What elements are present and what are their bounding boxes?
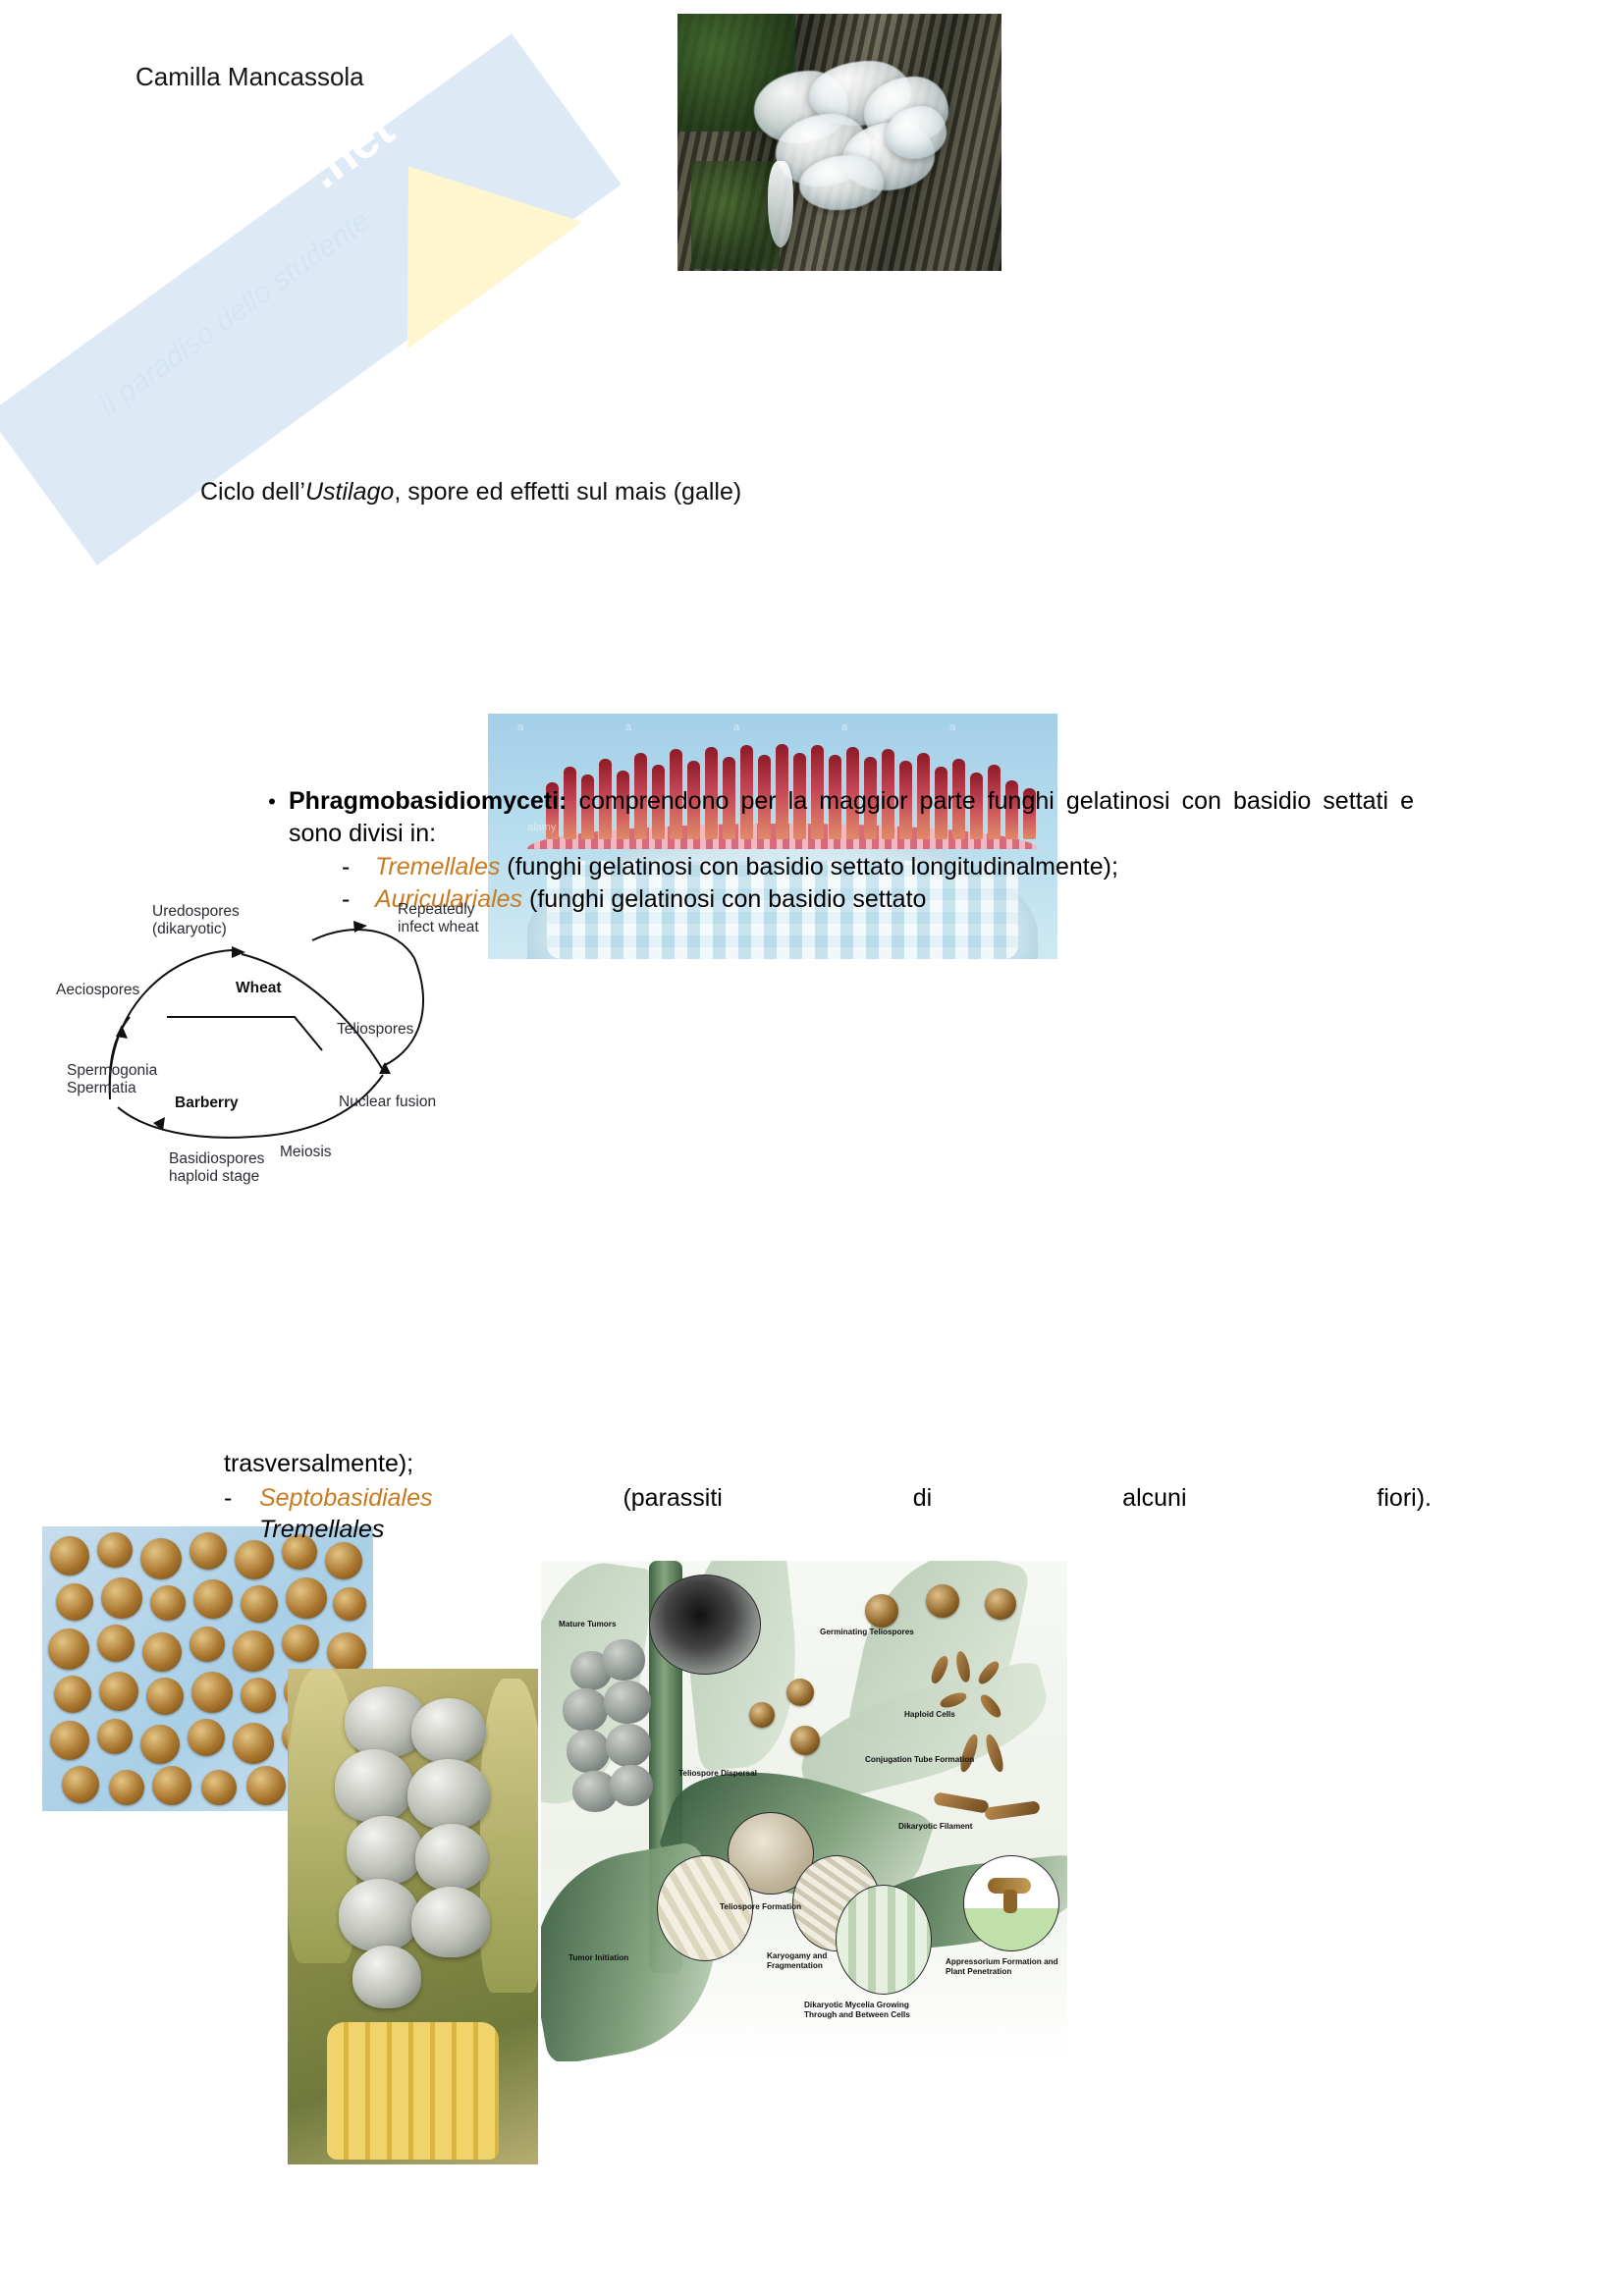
illustration-ustilago-life-cycle: Mature Tumors Teliospore Dispersal Germi… xyxy=(541,1561,1067,2061)
rust-label-barberry: Barberry xyxy=(175,1095,239,1112)
photo-corn-smut-galls xyxy=(288,1669,538,2164)
mature-tumor-lobe xyxy=(563,1688,608,1732)
mature-tumor-lobe xyxy=(606,1724,651,1767)
alamy-tile-a: a xyxy=(517,721,523,733)
caption-prefix: Ciclo dell’ xyxy=(200,478,305,506)
sub-text-tremellales: (funghi gelatinosi con basidio settato l… xyxy=(500,853,1118,881)
document-page: SKUOLA .net il paradiso dello studente C… xyxy=(0,0,1623,2296)
rust-label-basidiospores: Basidiospores haploid stage xyxy=(169,1150,264,1187)
caption-italic-term: Ustilago xyxy=(305,478,394,506)
label-teliospore-dispersal: Teliospore Dispersal xyxy=(678,1769,757,1779)
mature-tumor-lobe xyxy=(604,1681,651,1724)
label-haploid-cells: Haploid Cells xyxy=(904,1710,955,1720)
figure-caption-ustilago: Ciclo dell’Ustilago, spore ed effetti su… xyxy=(200,478,741,507)
rust-label-uredospores: Uredospores (dikaryotic) xyxy=(152,903,240,939)
alamy-tile-a: a xyxy=(733,721,739,733)
smut-gall xyxy=(335,1749,413,1822)
appressorium-circle xyxy=(963,1855,1059,1951)
smut-gall xyxy=(415,1824,488,1891)
germinating-teliospore xyxy=(865,1594,898,1628)
tumor-closeup-circle xyxy=(649,1575,761,1675)
corn-kernels xyxy=(327,2022,499,2160)
word-parassiti: (parassiti xyxy=(622,1482,722,1515)
mature-tumor-lobe xyxy=(567,1730,610,1773)
watermark-tld: .net xyxy=(297,99,405,200)
rust-label-repeatedly-infect: Repeatedly infect wheat xyxy=(398,901,479,937)
alamy-tile-a: a xyxy=(625,721,631,733)
mature-tumor-lobe xyxy=(610,1765,653,1806)
word-alcuni: alcuni xyxy=(1122,1482,1186,1515)
rust-label-meiosis: Meiosis xyxy=(280,1144,332,1161)
watermark-triangle xyxy=(321,103,582,349)
watermark-tagline: il paradiso dello studente xyxy=(93,204,376,423)
rust-life-cycle-diagram: Uredospores (dikaryotic) Repeatedly infe… xyxy=(59,864,520,1217)
alamy-tile-a: a xyxy=(841,721,847,733)
lower-dash: - xyxy=(224,1482,259,1515)
label-dikaryotic-filament: Dikaryotic Filament xyxy=(898,1822,973,1832)
watermark-brand: SKUOLA xyxy=(21,52,356,333)
taxon-note-tremellales: Tremellales xyxy=(259,1514,1432,1546)
dikaryotic-mycelia-circle xyxy=(836,1885,932,1995)
septobasidiales-line: Septobasidiales (parassiti di alcuni fio… xyxy=(259,1482,1432,1515)
lower-text-block: trasversalmente); - Septobasidiales (par… xyxy=(224,1448,1432,1546)
teliospore xyxy=(790,1726,820,1755)
rust-label-spermogonia: Spermogonia Spermatia xyxy=(67,1062,157,1098)
rust-label-teliospores: Teliospores xyxy=(337,1021,413,1039)
rust-label-nuclear-fusion: Nuclear fusion xyxy=(339,1094,436,1111)
smut-gall xyxy=(407,1759,490,1830)
alamy-tile-a: a xyxy=(949,721,955,733)
label-dikaryotic-mycelia: Dikaryotic Mycelia Growing Through and B… xyxy=(804,2001,932,2021)
husk-leaf xyxy=(480,1679,538,1993)
word-fiori: fiori). xyxy=(1377,1482,1432,1515)
taxon-septobasidiales: Septobasidiales xyxy=(259,1482,433,1515)
label-conjugation-tube-formation: Conjugation Tube Formation xyxy=(865,1755,974,1765)
teliospore xyxy=(749,1702,775,1728)
sub-text-auriculariales: (funghi gelatinosi con basidio settato xyxy=(522,885,926,913)
label-karyogamy-fragmentation: Karyogamy and Fragmentation xyxy=(767,1951,845,1972)
word-di: di xyxy=(913,1482,932,1515)
smut-gall xyxy=(352,1946,421,2008)
label-appressorium-formation: Appressorium Formation and Plant Penetra… xyxy=(946,1957,1063,1978)
smut-gall xyxy=(411,1698,486,1763)
mature-tumor-lobe xyxy=(602,1639,645,1681)
text-trasversalmente: trasversalmente); xyxy=(224,1448,1432,1480)
caption-suffix: , spore ed effetti sul mais (galle) xyxy=(394,478,741,506)
germinating-teliospore xyxy=(926,1584,959,1618)
label-tumor-initiation: Tumor Initiation xyxy=(568,1953,628,1963)
label-teliospore-formation: Teliospore Formation xyxy=(720,1902,801,1912)
label-germinating-teliospores: Germinating Teliospores xyxy=(820,1628,914,1637)
bullet-term: Phragmobasidiomyceti: xyxy=(289,787,567,815)
author-name: Camilla Mancassola xyxy=(135,62,364,92)
fungus-stalk xyxy=(768,161,793,247)
smut-gall xyxy=(339,1879,419,1951)
bullet-marker: • xyxy=(255,785,289,819)
rust-label-aeciospores: Aeciospores xyxy=(56,982,139,999)
bullet-paragraph: Phragmobasidiomyceti: comprendono per la… xyxy=(289,785,1414,849)
rust-label-wheat: Wheat xyxy=(236,980,282,997)
label-mature-tumors: Mature Tumors xyxy=(559,1620,617,1629)
teliospore xyxy=(786,1679,814,1706)
germinating-teliospore xyxy=(985,1588,1016,1620)
smut-gall xyxy=(411,1887,490,1957)
photo-tremella-fuciformis xyxy=(677,14,1001,271)
smut-gall xyxy=(347,1816,423,1885)
